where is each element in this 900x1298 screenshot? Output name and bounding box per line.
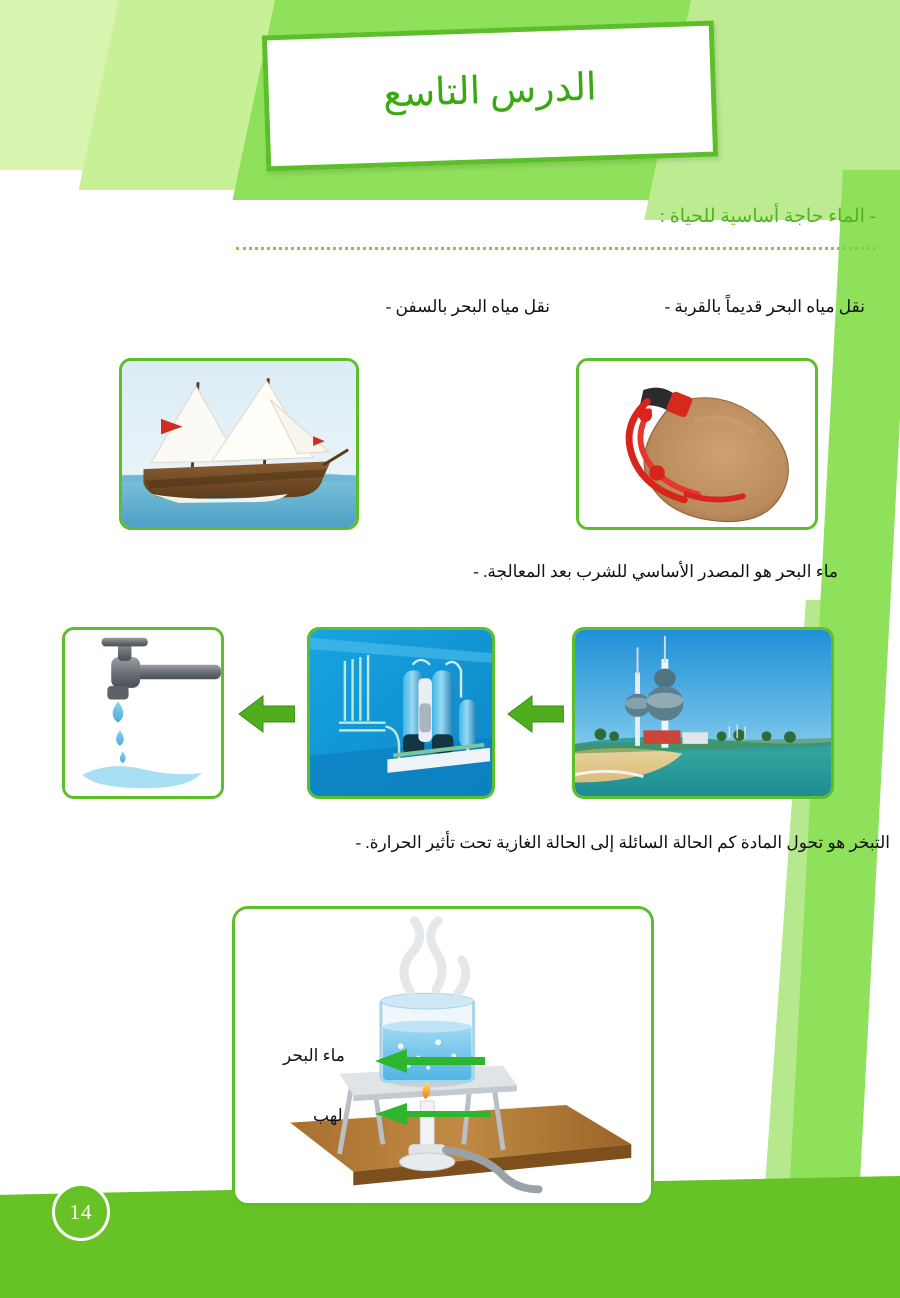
figure-waterskin	[576, 358, 818, 530]
dotted-rule-icon	[236, 236, 876, 250]
experiment-label-seawater: ماء البحر	[283, 1046, 345, 1066]
figure-desalination-plant	[307, 627, 495, 799]
page-number: 14	[52, 1183, 110, 1241]
arrow-left-icon	[237, 694, 295, 734]
caption-water-source: ماء البحر هو المصدر الأساسي للشرب بعد ال…	[473, 562, 838, 582]
arrow-left-icon	[373, 1101, 491, 1127]
caption-evaporation: التبخر هو تحول المادة كم الحالة السائلة …	[355, 833, 890, 853]
caption-waterskin: نقل مياه البحر قديماً بالقربة -	[664, 297, 865, 317]
section-heading: - الماء حاجة أساسية للحياة :	[356, 205, 876, 228]
lesson-title-box: الدرس التاسع	[262, 21, 718, 172]
page-title: الدرس التاسع	[382, 64, 597, 116]
experiment-label-flame: لهب	[313, 1106, 343, 1126]
arrow-left-icon	[373, 1048, 485, 1074]
figure-water-tap	[62, 627, 224, 799]
page-canvas: 14 الدرس التاسع - الماء حاجة أساسية للحي…	[0, 0, 900, 1298]
figure-dhow-ship	[119, 358, 359, 530]
caption-ship: نقل مياه البحر بالسفن -	[386, 297, 550, 317]
arrow-left-icon	[506, 694, 564, 734]
figure-kuwait-towers	[572, 627, 834, 799]
